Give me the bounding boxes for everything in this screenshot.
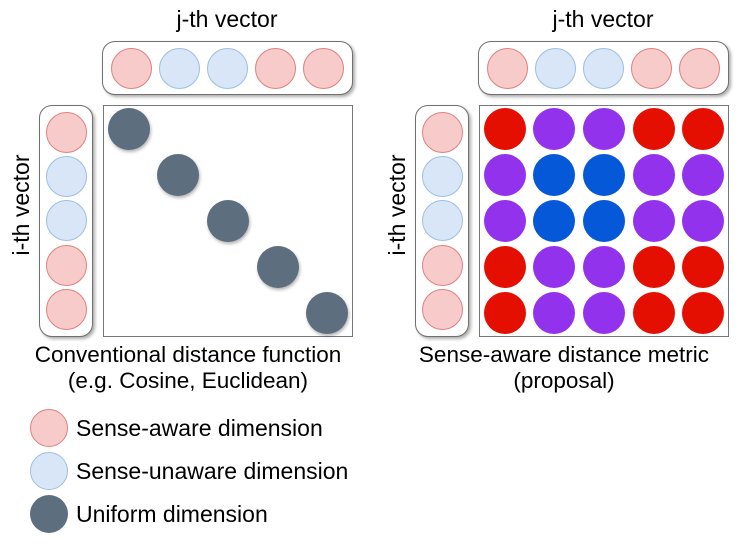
matrix-dot-blue bbox=[533, 200, 575, 242]
matrix-dot-purple bbox=[533, 108, 575, 150]
matrix-dot-red bbox=[682, 292, 724, 334]
dimension-aware bbox=[422, 289, 463, 330]
matrix-dot-purple bbox=[682, 154, 724, 196]
matrix-dot-purple bbox=[682, 200, 724, 242]
matrix-cell bbox=[302, 290, 352, 336]
matrix-cell bbox=[579, 198, 629, 244]
matrix-dot-purple bbox=[484, 200, 526, 242]
panel-proposal: j-th vector i-th vector Sense-aware dist… bbox=[376, 0, 752, 400]
matrix-cell bbox=[154, 152, 204, 198]
dimension-aware bbox=[631, 48, 672, 89]
caption-line-2: (proposal) bbox=[376, 368, 752, 394]
matrix-cell bbox=[104, 152, 154, 198]
caption-line-1: Sense-aware distance metric bbox=[376, 342, 752, 368]
panel-conventional: j-th vector i-th vector Conventional dis… bbox=[0, 0, 376, 400]
matrix-cell bbox=[629, 106, 679, 152]
matrix-dot-blue bbox=[583, 154, 625, 196]
matrix-cell bbox=[154, 290, 204, 336]
legend: Sense-aware dimensionSense-unaware dimen… bbox=[0, 406, 752, 535]
matrix-dot-red bbox=[484, 246, 526, 288]
row-vector-strip bbox=[39, 105, 93, 337]
matrix-cell bbox=[203, 290, 253, 336]
matrix-dot-red bbox=[633, 292, 675, 334]
legend-label: Sense-unaware dimension bbox=[76, 458, 348, 484]
matrix-cell bbox=[579, 244, 629, 290]
matrix-dot-uniform bbox=[257, 246, 299, 288]
matrix-cell bbox=[104, 244, 154, 290]
matrix-dot-purple bbox=[484, 154, 526, 196]
matrix-cell bbox=[579, 290, 629, 336]
matrix-cell bbox=[579, 152, 629, 198]
legend-swatch-aware bbox=[30, 409, 68, 447]
dimension-aware bbox=[303, 48, 344, 89]
matrix-cell bbox=[302, 244, 352, 290]
matrix-dot-purple bbox=[583, 108, 625, 150]
legend-item: Sense-unaware dimension bbox=[0, 449, 752, 492]
matrix-dot-red bbox=[633, 246, 675, 288]
matrix-cell bbox=[678, 290, 728, 336]
caption-line-1: Conventional distance function bbox=[0, 342, 376, 368]
matrix-dot-red bbox=[682, 108, 724, 150]
distance-matrix-proposal bbox=[479, 105, 729, 337]
matrix-cell bbox=[154, 244, 204, 290]
matrix-dot-purple bbox=[583, 292, 625, 334]
matrix-cell bbox=[579, 106, 629, 152]
row-vector-strip bbox=[415, 105, 469, 337]
matrix-cell bbox=[530, 290, 580, 336]
dimension-unaware bbox=[46, 156, 87, 197]
matrix-dot-purple bbox=[583, 246, 625, 288]
matrix-cell bbox=[629, 290, 679, 336]
matrix-dot-red bbox=[633, 108, 675, 150]
matrix-dot-red bbox=[682, 246, 724, 288]
matrix-cell bbox=[302, 198, 352, 244]
matrix-cell bbox=[530, 152, 580, 198]
matrix-cell bbox=[302, 152, 352, 198]
matrix-cell bbox=[253, 152, 303, 198]
matrix-dot-uniform bbox=[306, 292, 348, 334]
legend-swatch-unaware bbox=[30, 452, 68, 490]
matrix-cell bbox=[253, 106, 303, 152]
dimension-unaware bbox=[46, 200, 87, 241]
matrix-cell bbox=[530, 244, 580, 290]
legend-item: Sense-aware dimension bbox=[0, 406, 752, 449]
matrix-cell bbox=[678, 152, 728, 198]
dimension-unaware bbox=[207, 48, 248, 89]
dimension-aware bbox=[422, 245, 463, 286]
matrix-cell bbox=[203, 152, 253, 198]
matrix-cell bbox=[530, 106, 580, 152]
matrix-cell bbox=[203, 198, 253, 244]
matrix-dot-uniform bbox=[108, 108, 150, 150]
matrix-dot-red bbox=[484, 292, 526, 334]
matrix-cell bbox=[629, 198, 679, 244]
column-vector-title: j-th vector bbox=[96, 4, 358, 34]
matrix-cell bbox=[253, 290, 303, 336]
column-vector-title: j-th vector bbox=[472, 4, 734, 34]
matrix-cell bbox=[253, 244, 303, 290]
matrix-dot-uniform bbox=[207, 200, 249, 242]
column-vector-strip bbox=[102, 41, 353, 95]
panel-caption: Conventional distance function (e.g. Cos… bbox=[0, 342, 376, 394]
row-vector-title: i-th vector bbox=[384, 130, 410, 280]
matrix-cell bbox=[480, 198, 530, 244]
legend-label: Uniform dimension bbox=[76, 501, 268, 527]
matrix-dot-blue bbox=[533, 154, 575, 196]
dimension-aware bbox=[46, 245, 87, 286]
matrix-cell bbox=[203, 106, 253, 152]
matrix-cell bbox=[104, 290, 154, 336]
matrix-cell bbox=[302, 106, 352, 152]
column-vector-strip bbox=[478, 41, 729, 95]
matrix-cell bbox=[480, 244, 530, 290]
dimension-aware bbox=[46, 112, 87, 153]
dimension-aware bbox=[46, 289, 87, 330]
matrix-cell bbox=[480, 106, 530, 152]
panel-caption: Sense-aware distance metric (proposal) bbox=[376, 342, 752, 394]
matrix-dot-blue bbox=[583, 200, 625, 242]
matrix-cell bbox=[154, 106, 204, 152]
matrix-cell bbox=[629, 244, 679, 290]
matrix-cell bbox=[154, 198, 204, 244]
dimension-aware bbox=[111, 48, 152, 89]
matrix-cell bbox=[678, 198, 728, 244]
dimension-aware bbox=[679, 48, 720, 89]
matrix-cell bbox=[678, 244, 728, 290]
dimension-aware bbox=[487, 48, 528, 89]
matrix-dot-purple bbox=[533, 246, 575, 288]
row-vector-title: i-th vector bbox=[8, 130, 34, 280]
matrix-cell bbox=[104, 198, 154, 244]
matrix-cell bbox=[203, 244, 253, 290]
distance-matrix-conventional bbox=[103, 105, 353, 337]
dimension-aware bbox=[255, 48, 296, 89]
matrix-cell bbox=[480, 152, 530, 198]
dimension-unaware bbox=[535, 48, 576, 89]
legend-label: Sense-aware dimension bbox=[76, 415, 323, 441]
matrix-cell bbox=[530, 198, 580, 244]
dimension-unaware bbox=[583, 48, 624, 89]
dimension-unaware bbox=[159, 48, 200, 89]
dimension-unaware bbox=[422, 156, 463, 197]
matrix-cell bbox=[104, 106, 154, 152]
matrix-cell bbox=[253, 198, 303, 244]
dimension-unaware bbox=[422, 200, 463, 241]
legend-swatch-uniform bbox=[30, 495, 68, 533]
matrix-dot-uniform bbox=[157, 154, 199, 196]
matrix-dot-purple bbox=[633, 154, 675, 196]
dimension-aware bbox=[422, 112, 463, 153]
matrix-dot-red bbox=[484, 108, 526, 150]
matrix-cell bbox=[480, 290, 530, 336]
caption-line-2: (e.g. Cosine, Euclidean) bbox=[0, 368, 376, 394]
matrix-cell bbox=[629, 152, 679, 198]
matrix-cell bbox=[678, 106, 728, 152]
matrix-dot-purple bbox=[633, 200, 675, 242]
matrix-dot-purple bbox=[533, 292, 575, 334]
legend-item: Uniform dimension bbox=[0, 492, 752, 535]
